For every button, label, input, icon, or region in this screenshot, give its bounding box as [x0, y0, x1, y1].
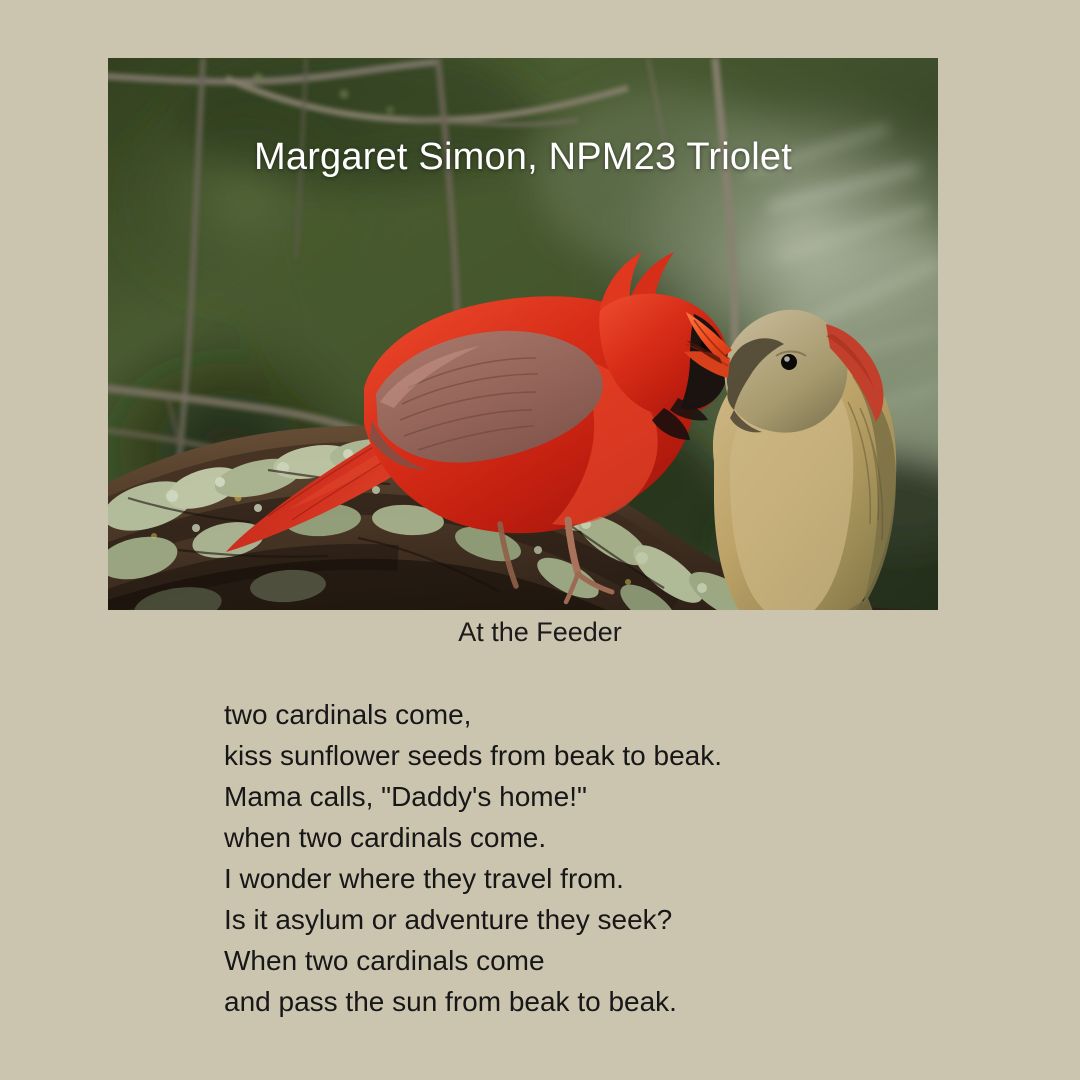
- poem-line: when two cardinals come.: [224, 817, 984, 858]
- poem-line: and pass the sun from beak to beak.: [224, 981, 984, 1022]
- poem-line: Mama calls, "Daddy's home!": [224, 776, 984, 817]
- cardinals-photo: Margaret Simon, NPM23 Triolet: [108, 58, 938, 610]
- poem-card: Margaret Simon, NPM23 Triolet At the Fee…: [0, 0, 1080, 1080]
- poem-line: two cardinals come,: [224, 694, 984, 735]
- female-eye: [781, 354, 797, 370]
- poem-line: I wonder where they travel from.: [224, 858, 984, 899]
- photo-caption: At the Feeder: [0, 617, 1080, 648]
- poem-text: two cardinals come, kiss sunflower seeds…: [224, 694, 984, 1022]
- poem-line: Is it asylum or adventure they seek?: [224, 899, 984, 940]
- cardinals-photo-illustration: [108, 58, 938, 610]
- poem-line: When two cardinals come: [224, 940, 984, 981]
- poem-line: kiss sunflower seeds from beak to beak.: [224, 735, 984, 776]
